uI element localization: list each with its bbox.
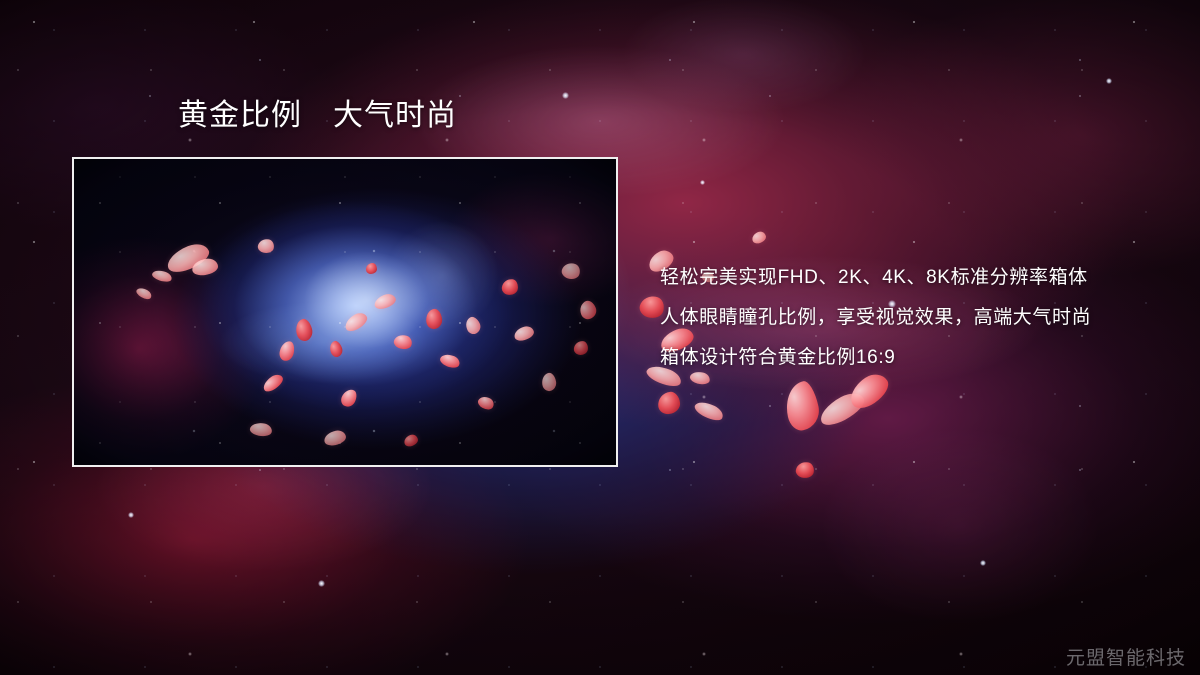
petal bbox=[323, 429, 347, 447]
petal bbox=[328, 339, 345, 358]
petal bbox=[657, 391, 681, 415]
panel-nebula-base bbox=[74, 159, 616, 465]
image-panel bbox=[72, 157, 618, 467]
presentation-slide: 黄金比例 大气时尚 bbox=[0, 0, 1200, 675]
petal bbox=[278, 340, 296, 362]
bright-star bbox=[1106, 78, 1112, 84]
panel-starfield bbox=[74, 159, 616, 465]
bright-star bbox=[128, 512, 134, 518]
petal bbox=[294, 317, 315, 342]
petal bbox=[751, 230, 768, 245]
petal bbox=[513, 324, 536, 342]
petal bbox=[501, 278, 519, 296]
page-title: 黄金比例 大气时尚 bbox=[178, 101, 457, 131]
petal bbox=[261, 372, 286, 394]
petal bbox=[366, 263, 377, 274]
bright-star bbox=[980, 560, 986, 566]
petal bbox=[560, 261, 582, 282]
petal bbox=[463, 315, 483, 336]
petal bbox=[342, 310, 370, 334]
bright-star bbox=[318, 580, 325, 587]
petal bbox=[403, 433, 420, 448]
bright-star bbox=[700, 180, 705, 185]
petal bbox=[541, 372, 558, 392]
body-line-2: 人体眼睛瞳孔比例，享受视觉效果，高端大气时尚 bbox=[660, 298, 1091, 338]
petal bbox=[692, 398, 725, 424]
petal bbox=[339, 387, 359, 409]
petal bbox=[476, 394, 496, 412]
petal bbox=[781, 379, 822, 433]
body-text-block: 轻松完美实现FHD、2K、4K、8K标准分辨率箱体 人体眼睛瞳孔比例，享受视觉效… bbox=[660, 258, 1091, 378]
petal bbox=[257, 238, 275, 255]
bright-star bbox=[562, 92, 569, 99]
petal bbox=[438, 352, 461, 371]
petal bbox=[795, 461, 816, 480]
petal bbox=[392, 333, 413, 351]
watermark: 元盟智能科技 bbox=[1066, 648, 1186, 671]
petal bbox=[373, 292, 398, 311]
petal bbox=[249, 421, 273, 438]
body-line-1: 轻松完美实现FHD、2K、4K、8K标准分辨率箱体 bbox=[660, 258, 1091, 298]
body-line-3: 箱体设计符合黄金比例16:9 bbox=[660, 338, 1091, 378]
petal bbox=[577, 299, 599, 322]
panel-nebula-glow bbox=[74, 159, 616, 465]
petal bbox=[135, 286, 153, 302]
petal bbox=[425, 308, 444, 330]
panel-vignette bbox=[74, 159, 616, 465]
petal bbox=[573, 340, 588, 355]
